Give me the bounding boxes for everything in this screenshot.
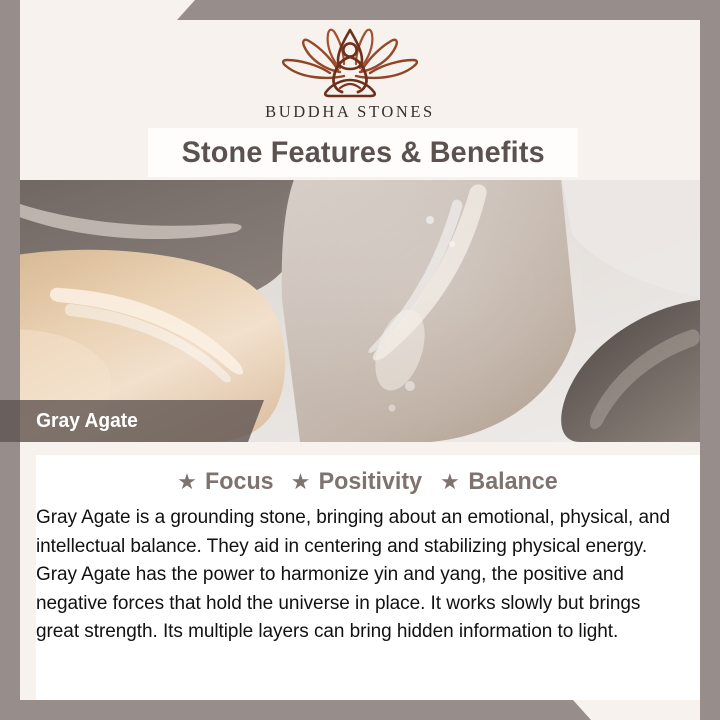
content-panel: ★ Focus ★ Positivity ★ Balance Gray Agat… bbox=[36, 455, 700, 700]
star-icon: ★ bbox=[291, 471, 311, 493]
keyword-item-positivity: ★ Positivity bbox=[291, 468, 424, 496]
star-icon: ★ bbox=[177, 471, 197, 493]
frame-border-top bbox=[0, 0, 720, 20]
keyword-label: Positivity bbox=[319, 468, 423, 496]
stone-description: Gray Agate is a grounding stone, bringin… bbox=[36, 504, 690, 647]
page-title-banner: Stone Features & Benefits bbox=[148, 128, 578, 177]
stone-name-tag: Gray Agate bbox=[0, 400, 264, 442]
stone-name: Gray Agate bbox=[36, 410, 138, 433]
lotus-meditation-figure-icon bbox=[270, 24, 430, 98]
brand-header: BUDDHA STONES bbox=[0, 20, 700, 130]
frame-border-right bbox=[700, 0, 720, 720]
keyword-label: Focus bbox=[205, 468, 274, 496]
keyword-item-focus: ★ Focus bbox=[177, 468, 274, 496]
brand-name: BUDDHA STONES bbox=[265, 102, 435, 122]
keyword-label: Balance bbox=[468, 468, 557, 496]
frame-border-bottom bbox=[0, 700, 720, 720]
page-title: Stone Features & Benefits bbox=[181, 136, 544, 170]
star-icon: ★ bbox=[440, 471, 460, 493]
keyword-item-balance: ★ Balance bbox=[440, 468, 559, 496]
stone-info-card: BUDDHA STONES Stone Features & Benefits bbox=[0, 0, 720, 720]
keyword-list: ★ Focus ★ Positivity ★ Balance bbox=[36, 466, 700, 498]
